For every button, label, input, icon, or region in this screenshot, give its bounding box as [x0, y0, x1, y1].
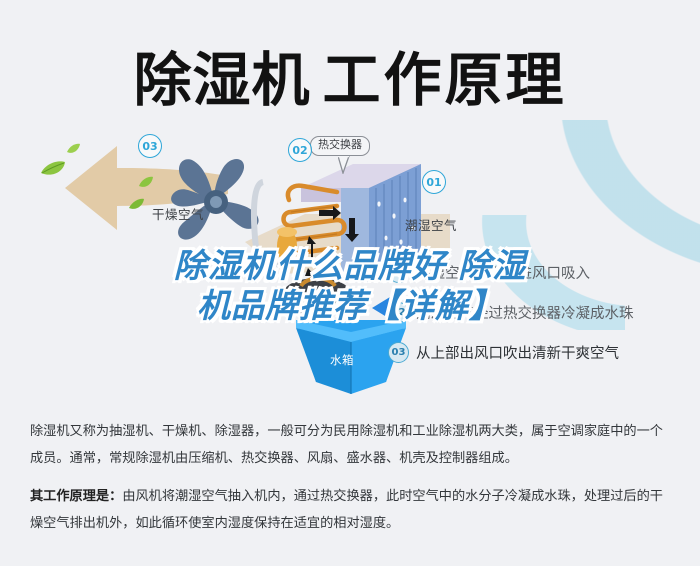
leaf-icon	[40, 160, 66, 178]
page-root: 除湿机工作原理	[0, 0, 700, 566]
body-paragraph-2-text: 由风机将潮湿空气抽入机内，通过热交换器，此时空气中的水分子冷凝成水珠，处理过后的…	[30, 489, 663, 531]
page-title-part2: 工作原理	[323, 46, 567, 114]
callout-tail-icon	[338, 156, 350, 174]
dehumidifier-diagram: 热交换器 03 02 01 干燥空气 潮湿空气 水箱 01 潮湿空气从下部进风口…	[0, 120, 700, 400]
leaf-icon	[138, 176, 154, 189]
step-label: 从上部出风口吹出清新干爽空气	[416, 342, 619, 363]
leaf-icon	[128, 198, 145, 211]
step-label: 潮湿空气从下部进风口吸入	[416, 262, 590, 283]
label-water-tank: 水箱	[330, 352, 354, 368]
step-row: 02 潮湿空气经过热交换器冷凝成水珠	[388, 292, 688, 332]
step-number: 01	[388, 262, 409, 283]
body-paragraph-2-label: 其工作原理是：	[30, 489, 122, 504]
heat-exchanger-callout: 热交换器	[310, 136, 370, 156]
body-paragraph-1: 除湿机又称为抽湿机、干燥机、除湿器，一般可分为民用除湿机和工业除湿机两大类，属于…	[30, 418, 674, 472]
page-header: 除湿机工作原理	[0, 30, 700, 120]
diagram-badge-03: 03	[138, 134, 162, 158]
step-label: 潮湿空气经过热交换器冷凝成水珠	[416, 302, 634, 323]
label-humid-air: 潮湿空气	[405, 215, 457, 234]
article-body: 除湿机又称为抽湿机、干燥机、除湿器，一般可分为民用除湿机和工业除湿机两大类，属于…	[30, 418, 674, 548]
page-title: 除湿机工作原理	[133, 33, 566, 117]
step-row: 03 从上部出风口吹出清新干爽空气	[388, 332, 688, 372]
body-paragraph-2: 其工作原理是：由风机将潮湿空气抽入机内，通过热交换器，此时空气中的水分子冷凝成水…	[30, 483, 674, 537]
leaf-icon	[66, 143, 81, 155]
label-dry-air: 干燥空气	[152, 204, 204, 223]
step-list: 01 潮湿空气从下部进风口吸入 02 潮湿空气经过热交换器冷凝成水珠 03 从上…	[388, 252, 688, 372]
step-number: 03	[388, 342, 409, 363]
step-row: 01 潮湿空气从下部进风口吸入	[388, 252, 688, 292]
diagram-badge-01: 01	[422, 170, 446, 194]
page-title-part1: 除湿机	[133, 46, 310, 114]
diagram-badge-02: 02	[288, 138, 312, 162]
step-number: 02	[388, 302, 409, 323]
